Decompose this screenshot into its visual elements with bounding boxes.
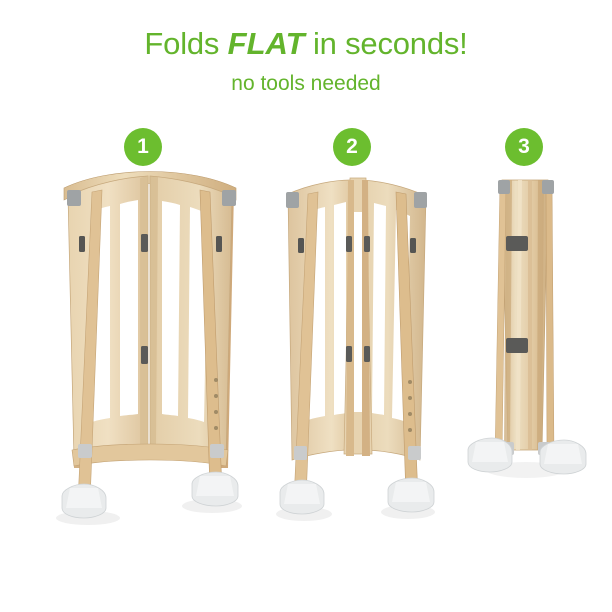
page-subtitle: no tools needed [0, 72, 612, 96]
plastic-foot [388, 478, 434, 512]
step-1-svg [40, 150, 260, 550]
slatted-wood-panel [288, 180, 350, 460]
headline-part-1: Folds [144, 26, 227, 61]
headline-part-2: in seconds! [305, 26, 468, 61]
step-2-svg [262, 150, 452, 550]
plastic-foot [468, 438, 512, 472]
product-illustration-row [0, 150, 612, 570]
poster-canvas: Folds FLAT in seconds! no tools needed 1… [0, 0, 612, 612]
slatted-wood-panel [68, 176, 148, 459]
product-image-step-3 [462, 150, 592, 550]
page-title: Folds FLAT in seconds! [0, 26, 612, 62]
slatted-wood-panel [362, 180, 426, 460]
step-3-svg [462, 150, 592, 550]
folded-stack [502, 180, 548, 450]
plastic-foot [62, 484, 106, 518]
product-image-step-1 [40, 150, 260, 550]
headline-emphasis: FLAT [228, 26, 305, 61]
slatted-wood-panel [150, 176, 232, 459]
product-image-step-2 [262, 150, 452, 550]
plastic-foot [192, 472, 238, 506]
plastic-foot [540, 440, 586, 474]
bottom-rail [72, 444, 228, 466]
plastic-foot [280, 480, 324, 514]
